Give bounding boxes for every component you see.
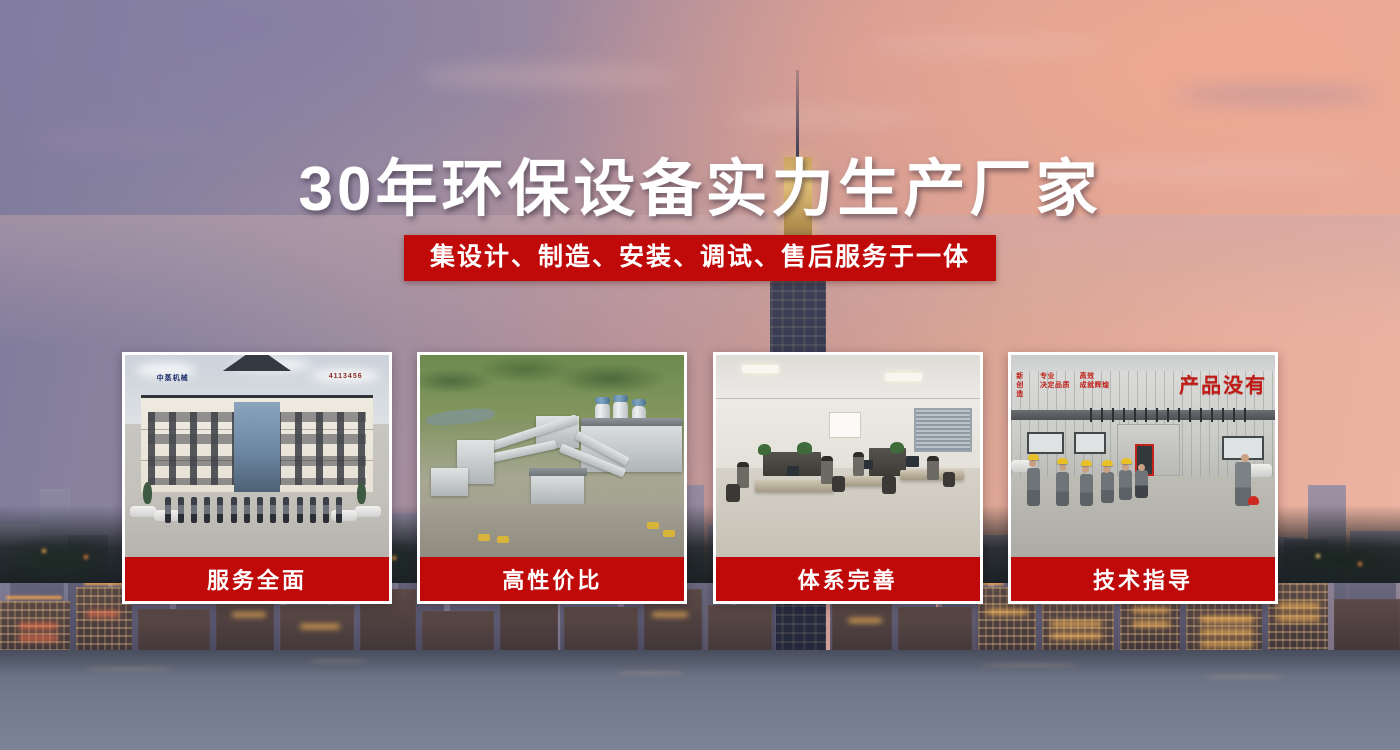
card-caption: 技术指导 — [1011, 557, 1275, 601]
card-photo-office — [716, 355, 980, 557]
card-caption: 高性价比 — [420, 557, 684, 601]
feature-card[interactable]: 中蒸机械 4113456 — [122, 352, 392, 604]
card-photo-production-plant — [420, 355, 684, 557]
promo-banner: 30年环保设备实力生产厂家 集设计、制造、安装、调试、售后服务于一体 — [0, 0, 1400, 750]
feature-card[interactable]: 体系完善 — [713, 352, 983, 604]
card-caption: 服务全面 — [125, 557, 389, 601]
feature-card[interactable]: 高性价比 — [417, 352, 687, 604]
card-photo-technical-training: 产品没有 新创造 专业决定品质 高效成就辉煌 — [1011, 355, 1275, 557]
feature-card-list: 中蒸机械 4113456 — [122, 352, 1278, 604]
company-sign-text: 中蒸机械 — [157, 373, 189, 383]
page-title: 30年环保设备实力生产厂家 — [0, 138, 1400, 228]
subtitle-wrap: 集设计、制造、安装、调试、售后服务于一体 — [0, 235, 1400, 281]
company-phone-text: 4113456 — [329, 373, 363, 380]
card-photo-company-building: 中蒸机械 4113456 — [125, 355, 389, 557]
river-water — [0, 650, 1400, 750]
subtitle-banner: 集设计、制造、安装、调试、售后服务于一体 — [404, 235, 996, 281]
feature-card[interactable]: 产品没有 新创造 专业决定品质 高效成就辉煌 — [1008, 352, 1278, 604]
card-caption: 体系完善 — [716, 557, 980, 601]
factory-slogan-text: 产品没有 — [1179, 369, 1267, 398]
